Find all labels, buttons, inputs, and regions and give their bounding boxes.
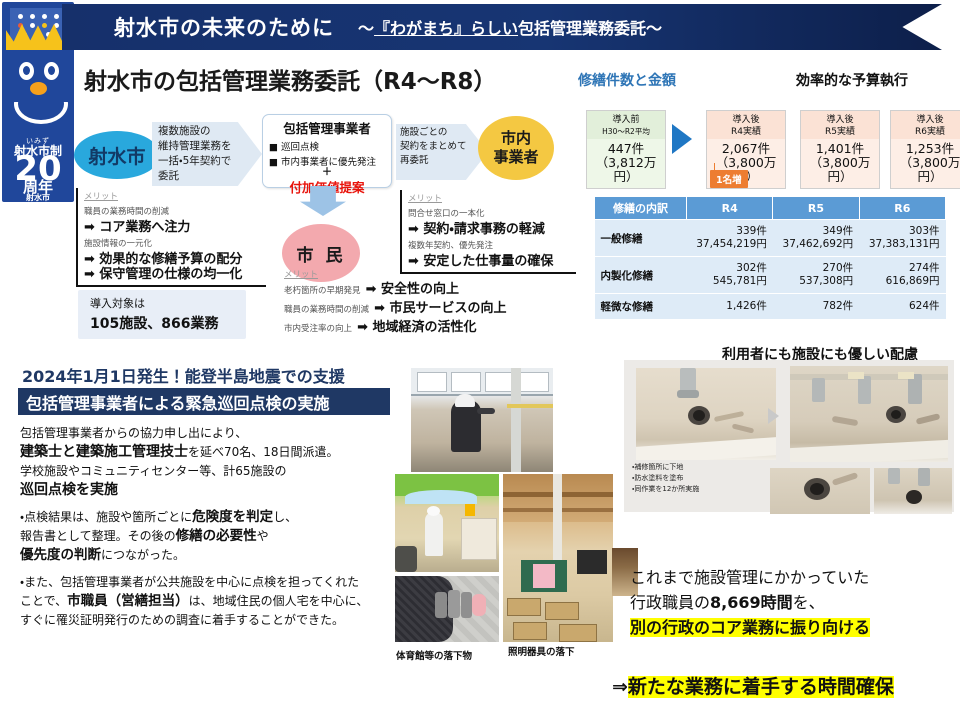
photo-classroom-damage [503, 474, 613, 642]
target-scope-box: 導入対象は 105施設、866業務 [78, 290, 246, 339]
table-row: 軽微な修繕 1,426件 782件 624件 [595, 294, 946, 320]
kpi-r6-amount: （3,800万円） [900, 155, 960, 184]
kpi-card-r5: 導入後R5実績 1,401件（3,800万円） [800, 110, 880, 189]
quake-p3-h: につながった。 [101, 548, 185, 562]
merit-label-city: メリット [84, 190, 266, 202]
vendor-label-line1: 市内 [501, 129, 531, 148]
cell-minor-r4: 1,426件 [687, 294, 773, 320]
table-row: 一般修繕 339件37,454,219円 349件37,462,692円 303… [595, 220, 946, 257]
quake-p3-c: し、 [273, 510, 297, 524]
photo-repair-detail-2 [874, 468, 952, 514]
kpi-r4-sublabel: R4実績 [731, 127, 761, 137]
quake-p2-line1: 学校施設やコミュニティセンター等、計65施設の [20, 462, 412, 481]
quake-p1-line1: 包括管理事業者からの協力申し出により、 [20, 424, 412, 443]
row-label-inhouse: 内製化修繕 [595, 257, 687, 294]
conclusion-hours: 8,669時間 [710, 593, 793, 612]
arrow-commission-label: 複数施設の維持管理業務を一括・5年契約で委託 [158, 124, 254, 184]
quake-heading: 2024年1月1日発生！能登半島地震での支援 [22, 363, 345, 387]
conclusion-block: これまで施設管理にかかっていた 行政職員の8,669時間を、 別の行政のコア業務… [630, 565, 952, 640]
quake-p3-bold2: 修繕の必要性 [176, 528, 257, 544]
kpi-r5-sublabel: R5実績 [825, 127, 855, 137]
kpi-before-label: 導入前 [612, 115, 639, 125]
vendor-label-line2: 事業者 [493, 148, 538, 167]
operator-item-0: ■ 巡回点検 [269, 139, 391, 153]
table-row: 内製化修繕 302件545,781円 270件537,308円 274件616,… [595, 257, 946, 294]
photo-fallen-debris-glove [395, 576, 499, 642]
node-citizen-label: 市 民 [297, 241, 346, 266]
kpi-heading-right: 効率的な予算執行 [796, 70, 908, 90]
row-label-general: 一般修繕 [595, 220, 687, 257]
table-col-r6: R6 [859, 197, 945, 220]
kpi-before-amount: （3,812万円） [596, 155, 657, 184]
target-scope-label: 導入対象は [90, 295, 246, 311]
quake-p3-d: 報告書として整理。その後の [20, 529, 176, 543]
table-header-row: 修繕の内訳 R4 R5 R6 [595, 197, 946, 220]
node-city-label: 射水市 [88, 142, 145, 169]
page-title: 射水市の包括管理業務委託（R4～R8） [84, 62, 496, 96]
table-col-label: 修繕の内訳 [595, 197, 687, 220]
status-badge-staff-increase: 1名増 [710, 170, 748, 188]
node-comprehensive-operator: 包括管理事業者 ■ 巡回点検 ■ 市内事業者に優先発注 ＋ 付加価値提案 [262, 114, 392, 188]
kpi-r5-label: 導入後 [826, 115, 853, 125]
cell-general-r4: 339件37,454,219円 [687, 220, 773, 257]
quake-body-text: 包括管理事業者からの協力申し出により、 建築士と建築施工管理技士を延べ70名、1… [20, 424, 412, 638]
quake-p3-bold1: 危険度を判定 [192, 509, 273, 525]
header-title: 射水市の未来のために [114, 12, 334, 42]
conclusion-final-highlight: 新たな業務に着手する時間確保 [628, 676, 894, 698]
quake-p4-bold: 市職員（営繕担当） [67, 593, 189, 609]
kpi-r6-count: 1,253件 [906, 141, 954, 156]
quake-p4-a: ・また、包括管理事業者が公共施設を中心に点検を担ってくれた [20, 573, 412, 592]
photo-inspection-corridor [395, 474, 499, 572]
kpi-r5-amount: （3,800万円） [810, 155, 871, 184]
consideration-notes: ・補修箇所に下地 ・防水塗料を塗布 ・同作業を12か所実施 [632, 462, 742, 495]
repair-breakdown-table: 修繕の内訳 R4 R5 R6 一般修繕 339件37,454,219円 349件… [594, 196, 946, 320]
mascot-text-cityname: 射水市 [2, 192, 74, 202]
kpi-r6-label: 導入後 [916, 115, 943, 125]
cell-inhouse-r6: 274件616,869円 [859, 257, 945, 294]
kpi-r4-label: 導入後 [732, 115, 759, 125]
conclusion-highlight: 別の行政のコア業務に振り向ける [630, 618, 870, 637]
operator-item-1: ■ 市内事業者に優先発注 [269, 154, 391, 168]
header-subtitle-prefix: ～ [358, 19, 374, 38]
consideration-note-0: ・補修箇所に下地 [632, 462, 742, 473]
kpi-r6-sublabel: R6実績 [915, 127, 945, 137]
quake-p3-a: ・点検結果は、施設や箇所ごとに [20, 510, 192, 524]
quake-p2-bold: 巡回点検を実施 [20, 482, 118, 498]
consideration-note-2: ・同作業を12か所実施 [632, 484, 742, 495]
kpi-r5-count: 1,401件 [816, 141, 864, 156]
merit-label-citizen: メリット [284, 268, 544, 280]
photo-ceiling-after [790, 366, 948, 462]
quake-p4-d: は、地域住民の個人宅を中心に、 [189, 594, 369, 608]
cell-inhouse-r5: 270件537,308円 [773, 257, 859, 294]
header-subtitle-underlined: 『わがまち』らしい [374, 19, 518, 38]
kpi-card-before: 導入前H30～R2平均 447件（3,812万円） [586, 110, 666, 189]
photo-ceiling-before [636, 368, 776, 460]
photo-caption-light: 照明器具の落下 [508, 644, 575, 658]
node-local-vendor: 市内 事業者 [478, 116, 554, 180]
photo-repair-detail-1 [770, 468, 870, 514]
kpi-r4-count: 2,067件 [722, 141, 770, 156]
header-subtitle-rest: 包括管理業務委託～ [518, 19, 662, 38]
quake-p4-e: すぐに罹災証明発行のための調査に着手することができた。 [20, 611, 412, 630]
photo-inspection-exterior [411, 368, 553, 472]
header-banner: 射水市の未来のために ～『わがまち』らしい包括管理業務委託～ [62, 4, 942, 50]
table-col-r4: R4 [687, 197, 773, 220]
kpi-card-r6: 導入後R6実績 1,253件（3,800万円） [890, 110, 960, 189]
node-city: 射水市 [74, 131, 160, 179]
photo-caption-gym: 体育館等の落下物 [396, 648, 472, 662]
quake-p3-bold3: 優先度の判断 [20, 547, 101, 563]
conclusion-line2-a: 行政職員の [630, 593, 710, 612]
header-subtitle: ～『わがまち』らしい包括管理業務委託～ [358, 15, 662, 39]
conclusion-line2-c: を、 [793, 593, 825, 612]
cell-general-r6: 303件37,383,131円 [859, 220, 945, 257]
target-scope-value: 105施設、866業務 [90, 313, 246, 333]
cell-general-r5: 349件37,462,692円 [773, 220, 859, 257]
kpi-before-sublabel: H30～R2平均 [602, 127, 650, 136]
conclusion-final-prefix: ⇒ [612, 676, 628, 698]
conclusion-line1: これまで施設管理にかかっていた [630, 565, 952, 590]
quake-p1-bold: 建築士と建築施工管理技士 [20, 444, 188, 460]
arrow-right-icon [672, 124, 692, 154]
row-label-minor: 軽微な修繕 [595, 294, 687, 320]
merit-block-city: メリット 職員の業務時間の削減 ➡ コア業務へ注力 施設情報の一元化 ➡ 効果的… [76, 188, 266, 287]
quake-p1-rest: を延べ70名、18日間派遣。 [188, 445, 339, 459]
consideration-note-1: ・防水塗料を塗布 [632, 473, 742, 484]
cell-inhouse-r4: 302件545,781円 [687, 257, 773, 294]
quake-p4-b: ことで、 [20, 594, 67, 608]
kpi-before-count: 447件 [608, 141, 644, 156]
quake-p3-f: や [257, 529, 269, 543]
cell-minor-r5: 782件 [773, 294, 859, 320]
conclusion-final: ⇒新たな業務に着手する時間確保 [612, 672, 894, 699]
table-col-r5: R5 [773, 197, 859, 220]
merit-city-row-0: 職員の業務時間の削減 [84, 202, 266, 219]
merit-block-citizen: メリット 老朽箇所の早期発見 ➡ 安全性の向上 職員の業務時間の削減 ➡ 市民サ… [280, 268, 544, 337]
panel-arrow-icon [768, 408, 779, 424]
kpi-heading-left: 修繕件数と金額 [578, 70, 676, 90]
arrow-resubcontract-label: 施設ごとの契約をまとめて再委託 [400, 126, 478, 168]
quake-title-bar-label: 包括管理事業者による緊急巡回点検の実施 [26, 390, 330, 414]
quake-title-bar: 包括管理事業者による緊急巡回点検の実施 [18, 388, 390, 415]
merit-block-vendor: メリット 問合せ窓口の一本化 ➡ 契約・請求事務の軽減 複数年契約、優先発注 ➡… [400, 190, 576, 274]
cell-minor-r6: 624件 [859, 294, 945, 320]
operator-plus: ＋ [263, 168, 391, 177]
operator-title: 包括管理事業者 [263, 118, 391, 137]
merit-label-vendor: メリット [408, 192, 576, 204]
